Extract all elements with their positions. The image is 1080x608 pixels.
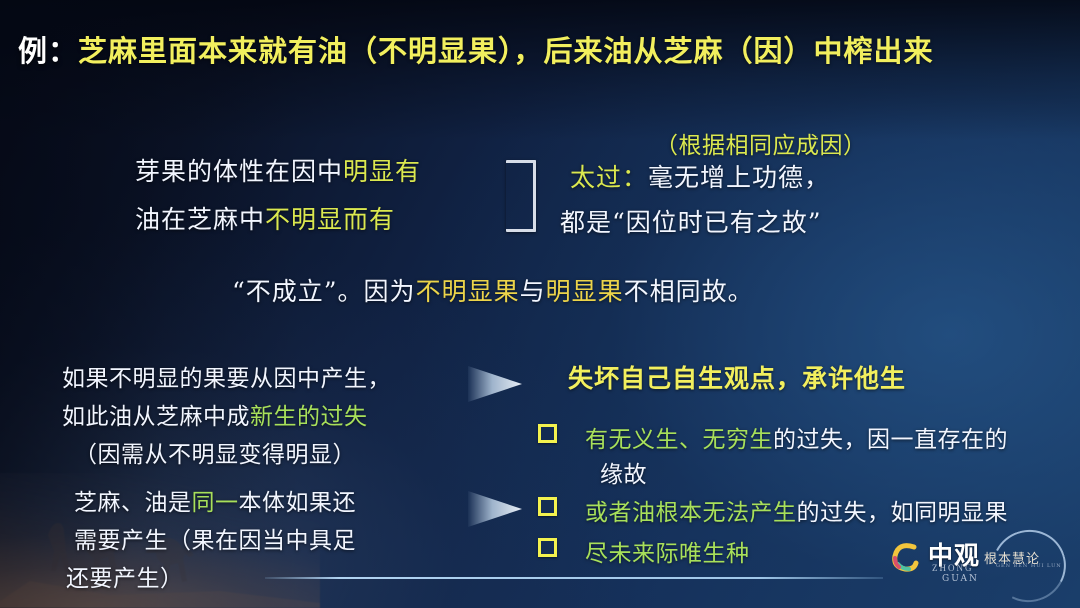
slide-title: 例：芝麻里面本来就有油（不明显果），后来油从芝麻（因）中榨出来 xyxy=(18,28,934,70)
left-block-2-line-1-white-2: 本体如果还 xyxy=(239,490,357,516)
bullet-text-1: 有无义生、无穷生的过失，因一直存在的 xyxy=(585,420,1008,454)
bullet-1-green: 有无义生、无穷生 xyxy=(585,427,773,453)
bullet-square-icon-2 xyxy=(538,497,557,516)
bullet-3-green: 尽未来际唯生种 xyxy=(585,541,750,567)
left-premise-2-highlight: 不明显而有 xyxy=(265,205,395,234)
left-block-2-line-1-white: 芝麻、油是 xyxy=(74,490,192,516)
bullet-square-icon-3 xyxy=(538,538,557,557)
conclusion-highlight-2: 明显果 xyxy=(546,277,624,306)
conclusion-line: “不成立”。因为不明显果与明显果不相同故。 xyxy=(232,272,754,308)
left-block-2-line-2: 需要产生（果在因当中具足 xyxy=(74,521,356,555)
right-premise-line-1: 太过：毫无增上功德， xyxy=(570,158,830,194)
title-text: 芝麻里面本来就有油（不明显果），后来油从芝麻（因）中榨出来 xyxy=(78,34,934,68)
right-premise-label: 太过： xyxy=(570,163,648,192)
bullet-1-white: 的过失，因一直存在的 xyxy=(773,427,1008,453)
bullet-2-white: 的过失，如同明显果 xyxy=(797,500,1009,526)
right-premise-text-1: 毫无增上功德， xyxy=(648,163,830,192)
arrow-right-icon-2 xyxy=(466,488,524,530)
right-premise-note: （根据相同应成因） xyxy=(655,126,867,160)
logo-roman-tiny: GEN BEN HUI LUN xyxy=(996,563,1062,569)
left-block-1-line-2: 如此油从芝麻中成新生的过失 xyxy=(62,397,368,431)
logo-roman-2: GUAN xyxy=(942,574,979,584)
bottom-divider xyxy=(265,577,883,579)
bullet-text-2: 或者油根本无法产生的过失，如同明显果 xyxy=(585,493,1008,527)
logo-swirl-icon xyxy=(892,542,926,572)
conclusion-part-3: 不相同故。 xyxy=(624,277,754,306)
bullet-text-3: 尽未来际唯生种 xyxy=(585,534,750,568)
title-lead: 例： xyxy=(18,34,78,68)
arrow-right-icon-1 xyxy=(466,363,524,405)
left-block-2-line-1-green: 同一 xyxy=(192,490,239,516)
logo-roman-1: ZHONG xyxy=(932,563,974,574)
left-premise-2-white: 油在芝麻中 xyxy=(135,205,265,234)
right-heading: 失坏自己自生观点，承许他生 xyxy=(568,359,906,395)
conclusion-part-2: 与 xyxy=(520,277,546,306)
right-bracket-shape xyxy=(506,160,536,232)
left-premise-1-highlight: 明显有 xyxy=(343,157,421,186)
left-block-1-line-1: 如果不明显的果要从因中产生， xyxy=(62,359,391,393)
left-premise-line-2: 油在芝麻中不明显而有 xyxy=(135,200,395,236)
left-block-1-line-2-green: 新生的过失 xyxy=(250,404,368,430)
left-block-2-line-3: 还要产生） xyxy=(66,559,184,593)
top-vignette xyxy=(0,0,1080,140)
slide-canvas: 例：芝麻里面本来就有油（不明显果），后来油从芝麻（因）中榨出来 芽果的体性在因中… xyxy=(0,0,1080,608)
bullet-text-1-cont: 缘故 xyxy=(600,455,647,489)
left-block-2-line-1: 芝麻、油是同一本体如果还 xyxy=(74,483,356,517)
right-premise-line-2: 都是“因位时已有之故” xyxy=(560,203,822,239)
conclusion-part-1: “不成立”。因为 xyxy=(232,277,416,306)
left-block-1-line-2-white: 如此油从芝麻中成 xyxy=(62,404,250,430)
conclusion-highlight-1: 不明显果 xyxy=(416,277,520,306)
bullet-square-icon-1 xyxy=(538,424,557,443)
left-premise-line-1: 芽果的体性在因中明显有 xyxy=(135,152,421,188)
bullet-2-green: 或者油根本无法产生 xyxy=(585,500,797,526)
left-premise-1-white: 芽果的体性在因中 xyxy=(135,157,343,186)
logo: 中观 根本慧论 ZHONG GUAN GEN BEN HUI LUN xyxy=(892,536,1070,598)
left-block-1-line-3: （因需从不明显变得明显） xyxy=(74,435,356,469)
